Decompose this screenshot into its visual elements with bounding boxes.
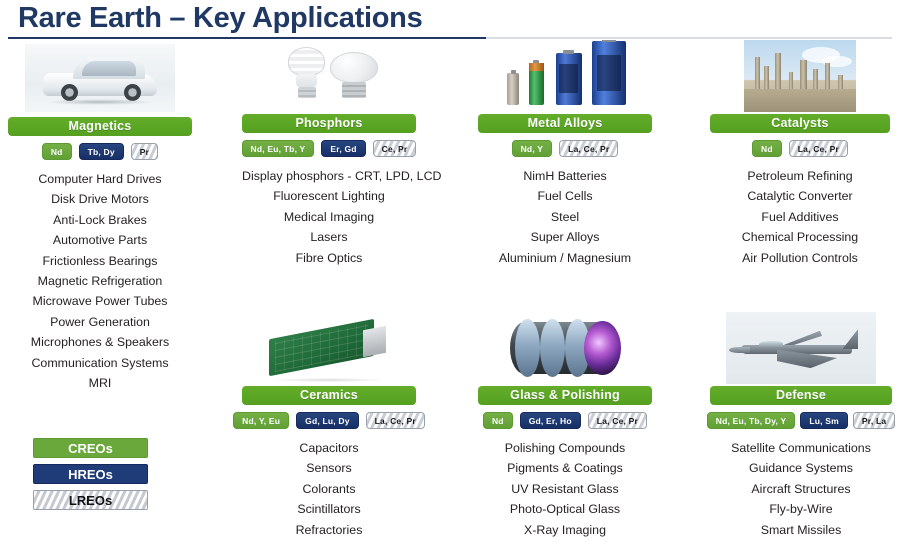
- list-item: Fluorescent Lighting: [242, 186, 416, 206]
- list-item: Aluminium / Magnesium: [478, 248, 652, 268]
- list-item: Capacitors: [242, 438, 416, 458]
- applications-catalysts: Petroleum Refining Catalytic Converter F…: [710, 166, 890, 268]
- list-item: Power Generation: [8, 312, 192, 332]
- list-item: Refractories: [242, 520, 416, 540]
- chips-defense: Nd, Eu, Tb, Dy, Y Lu, Sm Pr, La: [710, 412, 892, 429]
- list-item: Petroleum Refining: [710, 166, 890, 186]
- list-item: Disk Drive Motors: [8, 189, 192, 209]
- chip-creo: Nd: [483, 412, 513, 429]
- band-defense: Defense: [710, 386, 892, 405]
- page-title: Rare Earth – Key Applications: [18, 2, 422, 35]
- chip-creo: Nd, Eu, Tb, Dy, Y: [707, 412, 796, 429]
- list-item: Polishing Compounds: [478, 438, 652, 458]
- chip-lreo: La, Ce, Pr: [366, 412, 425, 429]
- applications-magnetics: Computer Hard Drives Disk Drive Motors A…: [8, 169, 192, 393]
- column-magnetics: Magnetics Nd Tb, Dy Pr Computer Hard Dri…: [8, 44, 192, 393]
- list-item: Catalytic Converter: [710, 186, 890, 206]
- list-item: Fuel Additives: [710, 207, 890, 227]
- band-catalysts: Catalysts: [710, 114, 890, 133]
- light-bulbs-photo: [263, 40, 395, 112]
- chip-lreo: Pr: [131, 143, 158, 160]
- list-item: Satellite Communications: [710, 438, 892, 458]
- chips-magnetics: Nd Tb, Dy Pr: [8, 143, 192, 160]
- chips-glass-polishing: Nd Gd, Er, Ho La, Ce, Pr: [478, 412, 652, 429]
- legend-item-lreos: LREOs: [33, 490, 148, 510]
- list-item: Super Alloys: [478, 227, 652, 247]
- list-item: Computer Hard Drives: [8, 169, 192, 189]
- list-item: Communication Systems: [8, 353, 192, 373]
- chip-lreo: La, Ce, Pr: [789, 140, 848, 157]
- band-magnetics: Magnetics: [8, 117, 192, 136]
- chip-lreo: Ce, Pr: [373, 140, 417, 157]
- list-item: X-Ray Imaging: [478, 520, 652, 540]
- applications-ceramics: Capacitors Sensors Colorants Scintillato…: [242, 438, 416, 540]
- chip-hreo: Gd, Lu, Dy: [296, 412, 359, 429]
- list-item: Steel: [478, 207, 652, 227]
- oil-refinery-photo: [744, 40, 856, 112]
- list-item: Colorants: [242, 479, 416, 499]
- applications-defense: Satellite Communications Guidance System…: [710, 438, 892, 540]
- column-phosphors: Phosphors Nd, Eu, Tb, Y Er, Gd Ce, Pr Di…: [242, 40, 416, 268]
- list-item: Microphones & Speakers: [8, 332, 192, 352]
- chip-creo: Nd, Y, Eu: [233, 412, 289, 429]
- chip-creo: Nd: [752, 140, 782, 157]
- list-item: NimH Batteries: [478, 166, 652, 186]
- list-item: Fuel Cells: [478, 186, 652, 206]
- list-item: Chemical Processing: [710, 227, 890, 247]
- list-item: Sensors: [242, 458, 416, 478]
- column-ceramics: Ceramics Nd, Y, Eu Gd, Lu, Dy La, Ce, Pr…: [242, 312, 416, 540]
- list-item: Photo-Optical Glass: [478, 499, 652, 519]
- list-item: Fibre Optics: [242, 248, 416, 268]
- list-item: Smart Missiles: [710, 520, 892, 540]
- list-item: Magnetic Refrigeration: [8, 271, 192, 291]
- list-item: Microwave Power Tubes: [8, 291, 192, 311]
- chip-hreo: Er, Gd: [321, 140, 365, 157]
- list-item: Pigments & Coatings: [478, 458, 652, 478]
- slide-root: Rare Earth – Key Applications Magnetics …: [0, 0, 900, 548]
- chip-lreo: La, Ce, Pr: [559, 140, 618, 157]
- title-area: Rare Earth – Key Applications: [0, 0, 900, 40]
- band-glass-polishing: Glass & Polishing: [478, 386, 652, 405]
- list-item: Automotive Parts: [8, 230, 192, 250]
- band-phosphors: Phosphors: [242, 114, 416, 133]
- applications-metal-alloys: NimH Batteries Fuel Cells Steel Super Al…: [478, 166, 652, 268]
- list-item: Fly-by-Wire: [710, 499, 892, 519]
- hybrid-car-photo: [25, 44, 175, 112]
- column-metal-alloys: Metal Alloys Nd, Y La, Ce, Pr NimH Batte…: [478, 40, 652, 268]
- list-item: Aircraft Structures: [710, 479, 892, 499]
- title-underline: [8, 37, 486, 39]
- chip-hreo: Gd, Er, Ho: [520, 412, 581, 429]
- circuit-board-photo: [258, 312, 400, 384]
- chip-hreo: Lu, Sm: [800, 412, 848, 429]
- batteries-photo: [489, 40, 641, 112]
- camera-lens-photo: [503, 312, 627, 384]
- legend-item-hreos: HREOs: [33, 464, 148, 484]
- applications-glass-polishing: Polishing Compounds Pigments & Coatings …: [478, 438, 652, 540]
- list-item: Display phosphors - CRT, LPD, LCD: [242, 166, 416, 186]
- title-underline-light: [486, 37, 892, 39]
- list-item: Air Pollution Controls: [710, 248, 890, 268]
- band-ceramics: Ceramics: [242, 386, 416, 405]
- chip-lreo: La, Ce, Pr: [588, 412, 647, 429]
- band-metal-alloys: Metal Alloys: [478, 114, 652, 133]
- column-defense: Defense Nd, Eu, Tb, Dy, Y Lu, Sm Pr, La …: [710, 312, 892, 540]
- column-catalysts: Catalysts Nd La, Ce, Pr Petroleum Refini…: [710, 40, 890, 268]
- chips-ceramics: Nd, Y, Eu Gd, Lu, Dy La, Ce, Pr: [242, 412, 416, 429]
- legend: CREOs HREOs LREOs: [33, 438, 148, 516]
- list-item: Guidance Systems: [710, 458, 892, 478]
- chip-lreo: Pr, La: [853, 412, 895, 429]
- chip-creo: Nd, Eu, Tb, Y: [242, 140, 315, 157]
- list-item: Anti-Lock Brakes: [8, 210, 192, 230]
- legend-item-creos: CREOs: [33, 438, 148, 458]
- list-item: Lasers: [242, 227, 416, 247]
- applications-phosphors: Display phosphors - CRT, LPD, LCD Fluore…: [242, 166, 416, 268]
- chip-creo: Nd, Y: [512, 140, 553, 157]
- chip-creo: Nd: [42, 143, 72, 160]
- list-item: Frictionless Bearings: [8, 251, 192, 271]
- list-item: UV Resistant Glass: [478, 479, 652, 499]
- column-glass-polishing: Glass & Polishing Nd Gd, Er, Ho La, Ce, …: [478, 312, 652, 540]
- list-item: Scintillators: [242, 499, 416, 519]
- list-item: Medical Imaging: [242, 207, 416, 227]
- chip-hreo: Tb, Dy: [79, 143, 124, 160]
- chips-metal-alloys: Nd, Y La, Ce, Pr: [478, 140, 652, 157]
- chips-phosphors: Nd, Eu, Tb, Y Er, Gd Ce, Pr: [242, 140, 416, 157]
- chips-catalysts: Nd La, Ce, Pr: [710, 140, 890, 157]
- fighter-jet-photo: [726, 312, 876, 384]
- list-item: MRI: [8, 373, 192, 393]
